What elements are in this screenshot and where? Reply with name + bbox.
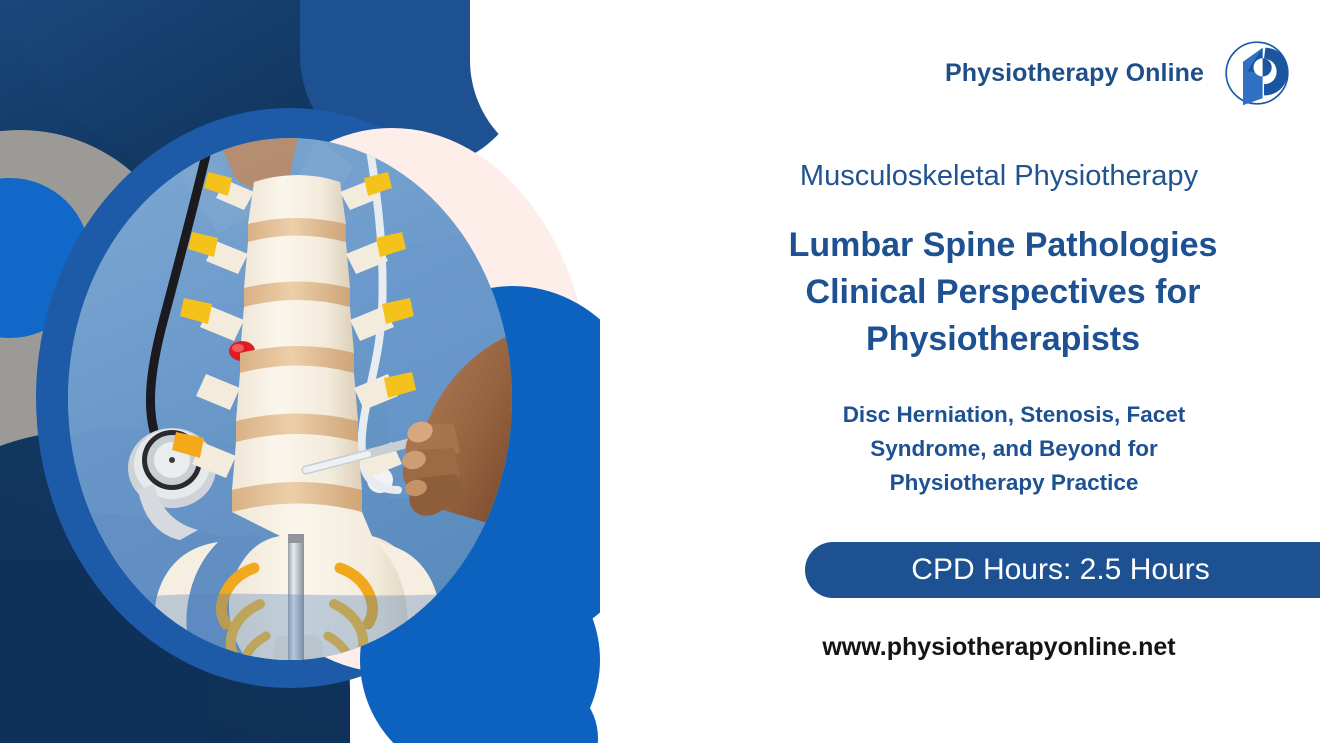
eyebrow-category: Musculoskeletal Physiotherapy bbox=[700, 160, 1298, 193]
subtitle: Disc Herniation, Stenosis, Facet Syndrom… bbox=[738, 398, 1290, 499]
subtitle-line-3: Physiotherapy Practice bbox=[738, 466, 1290, 500]
page-title: Lumbar Spine Pathologies Clinical Perspe… bbox=[708, 222, 1298, 363]
brand-lockup: Physiotherapy Online bbox=[945, 38, 1292, 108]
subtitle-line-1: Disc Herniation, Stenosis, Facet bbox=[738, 398, 1290, 432]
course-promo-poster: Physiotherapy Online Musculoskeletal Phy… bbox=[0, 0, 1320, 743]
headline-line-1: Lumbar Spine Pathologies bbox=[708, 222, 1298, 269]
headline-line-3: Physiotherapists bbox=[708, 316, 1298, 363]
circular-p-monogram-logo-icon bbox=[1222, 38, 1292, 108]
headline-line-2: Clinical Perspectives for bbox=[708, 269, 1298, 316]
spine-model-photo bbox=[68, 138, 512, 660]
content-panel: Physiotherapy Online Musculoskeletal Phy… bbox=[700, 0, 1320, 743]
decorative-artwork-panel bbox=[0, 0, 700, 743]
cpd-hours-label: CPD Hours: 2.5 Hours bbox=[911, 553, 1209, 587]
brand-name: Physiotherapy Online bbox=[945, 59, 1204, 88]
subtitle-line-2: Syndrome, and Beyond for bbox=[738, 432, 1290, 466]
website-url[interactable]: www.physiotherapyonline.net bbox=[700, 633, 1298, 662]
cpd-hours-badge: CPD Hours: 2.5 Hours bbox=[805, 542, 1320, 598]
